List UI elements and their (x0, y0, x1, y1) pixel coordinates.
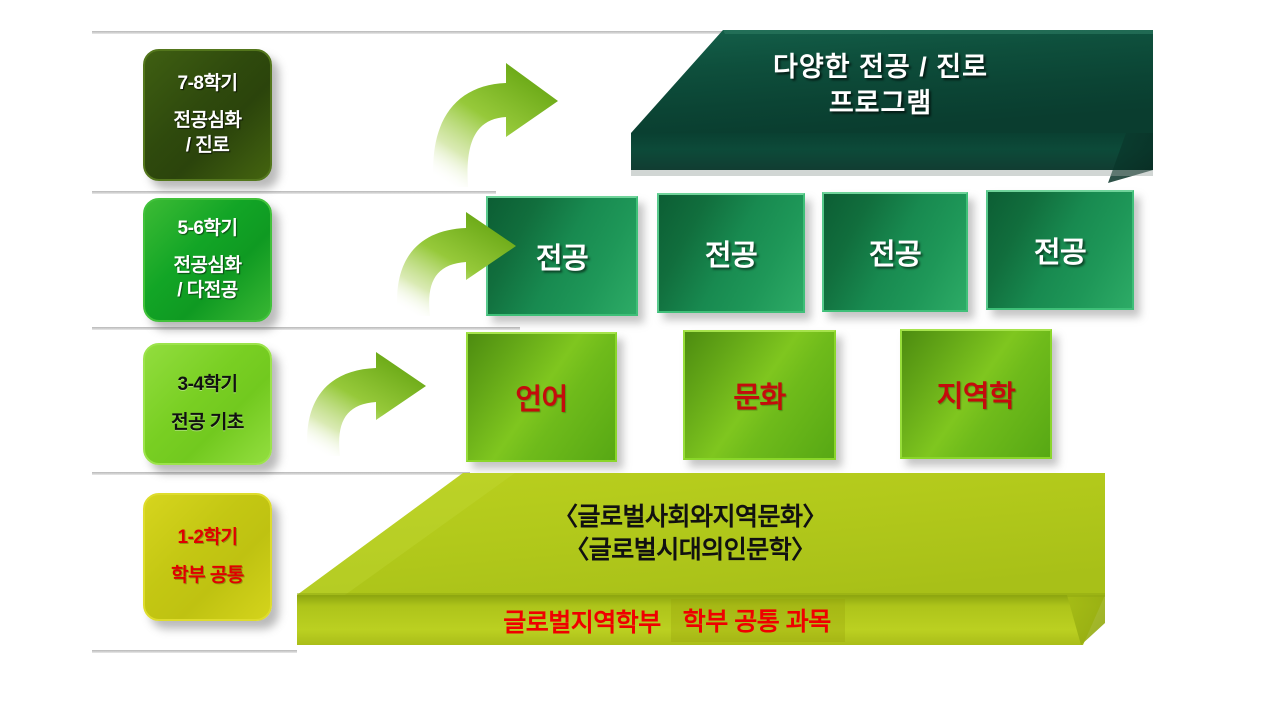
tile-core-language[interactable]: 언어 (466, 332, 617, 462)
stage-chip-1-2[interactable]: 1-2학기 학부 공통 (143, 493, 272, 621)
stage-chip-5-6-desc-1: 전공심화 (174, 254, 242, 278)
curriculum-diagram: 다양한 전공 / 진로 프로그램 전공 전공 전공 전공 언어 문화 지역학 (0, 0, 1280, 720)
platform-common-courses-label: 학부 공통 과목 (671, 599, 845, 642)
tile-core-culture-label: 문화 (733, 374, 785, 416)
tile-major-3[interactable]: 전공 (822, 192, 968, 312)
tile-core-language-label: 언어 (515, 376, 567, 418)
stage-chip-7-8-term: 7-8학기 (178, 72, 238, 96)
program-banner: 다양한 전공 / 진로 프로그램 (608, 30, 1153, 185)
tile-major-4-label: 전공 (1034, 229, 1086, 271)
stage-chip-7-8-desc-2: / 진로 (186, 134, 230, 158)
arrow-to-program-icon (410, 55, 575, 195)
tile-major-2[interactable]: 전공 (657, 193, 805, 313)
stage-chip-1-2-term: 1-2학기 (178, 526, 238, 550)
stage-chip-5-6-term: 5-6학기 (178, 217, 238, 241)
stage-chip-5-6-desc-2: / 다전공 (177, 279, 238, 303)
stage-chip-5-6[interactable]: 5-6학기 전공심화 / 다전공 (143, 198, 272, 322)
stage-chip-1-2-desc-1: 학부 공통 (171, 564, 244, 588)
tile-major-4[interactable]: 전공 (986, 190, 1134, 310)
divider-line-2 (92, 327, 520, 330)
tile-major-1-label: 전공 (536, 235, 588, 277)
common-course-platform: 〈글로벌사회와지역문화〉 〈글로벌시대의인문학〉 글로벌지역학부 학부 공통 과… (275, 473, 1105, 653)
platform-department-label: 글로벌지역학부 (495, 601, 671, 641)
platform-footer: 글로벌지역학부 학부 공통 과목 (275, 599, 1065, 642)
stage-chip-3-4-desc-1: 전공 기초 (171, 411, 244, 435)
tile-core-culture[interactable]: 문화 (683, 330, 836, 460)
stage-chip-7-8[interactable]: 7-8학기 전공심화 / 진로 (143, 49, 272, 181)
tile-major-2-label: 전공 (705, 232, 757, 274)
tile-core-areastudies-label: 지역학 (937, 373, 1016, 415)
arrow-to-core-icon (288, 350, 443, 462)
divider-line-bottom (92, 650, 297, 653)
arrow-to-majors-icon (378, 210, 533, 322)
tile-major-3-label: 전공 (869, 231, 921, 273)
stage-chip-3-4[interactable]: 3-4학기 전공 기초 (143, 343, 272, 465)
stage-chip-7-8-desc-1: 전공심화 (174, 109, 242, 133)
stage-chip-3-4-term: 3-4학기 (178, 373, 238, 397)
tile-core-areastudies[interactable]: 지역학 (900, 329, 1052, 459)
